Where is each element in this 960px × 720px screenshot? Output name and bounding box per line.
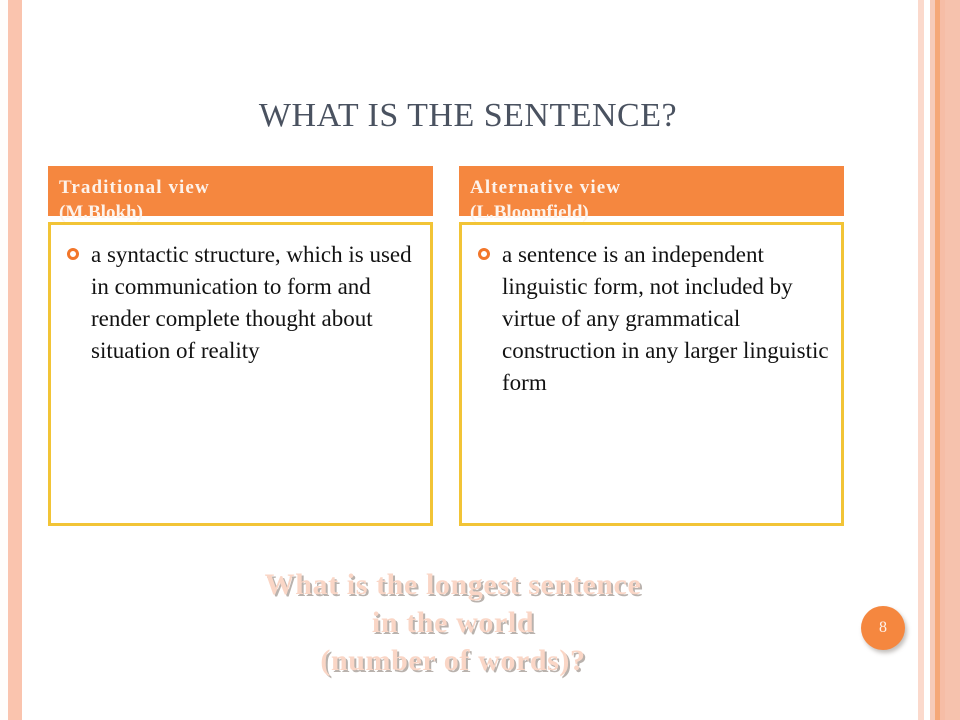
column-header-line1: Traditional view bbox=[59, 175, 433, 200]
page-number-badge: 8 bbox=[861, 606, 905, 650]
slide: WHAT IS THE SENTENCE? Traditional view (… bbox=[0, 0, 960, 720]
bottom-question-line1: What is the longest sentence bbox=[48, 566, 858, 604]
list-item-text: a syntactic structure, which is used in … bbox=[91, 239, 420, 367]
bottom-question-line3: (number of words)? bbox=[48, 642, 858, 680]
ring-bullet-icon bbox=[67, 248, 79, 260]
column-body-traditional: a syntactic structure, which is used in … bbox=[48, 222, 433, 526]
list-item: a syntactic structure, which is used in … bbox=[61, 239, 420, 367]
bottom-question-line2: in the world bbox=[48, 604, 858, 642]
stripe-7 bbox=[945, 0, 960, 720]
column-traditional-view: Traditional view (M.Blokh) a syntactic s… bbox=[48, 166, 433, 526]
list-item: a sentence is an independent linguistic … bbox=[472, 239, 831, 399]
list-item-text: a sentence is an independent linguistic … bbox=[502, 239, 831, 399]
bottom-question: What is the longest sentence in the worl… bbox=[48, 566, 858, 680]
page-title: WHAT IS THE SENTENCE? bbox=[48, 96, 888, 136]
left-edge-stripe bbox=[8, 0, 22, 720]
comparison-columns: Traditional view (M.Blokh) a syntactic s… bbox=[48, 166, 844, 526]
right-edge-stripes bbox=[912, 0, 960, 720]
left-edge-inner-stripe bbox=[0, 0, 8, 720]
ring-bullet-icon bbox=[478, 248, 490, 260]
column-alternative-view: Alternative view (L.Bloomfield) a senten… bbox=[459, 166, 844, 526]
column-header-alternative: Alternative view (L.Bloomfield) bbox=[459, 166, 844, 216]
column-header-line1: Alternative view bbox=[470, 175, 844, 200]
column-body-alternative: a sentence is an independent linguistic … bbox=[459, 222, 844, 526]
column-header-traditional: Traditional view (M.Blokh) bbox=[48, 166, 433, 216]
